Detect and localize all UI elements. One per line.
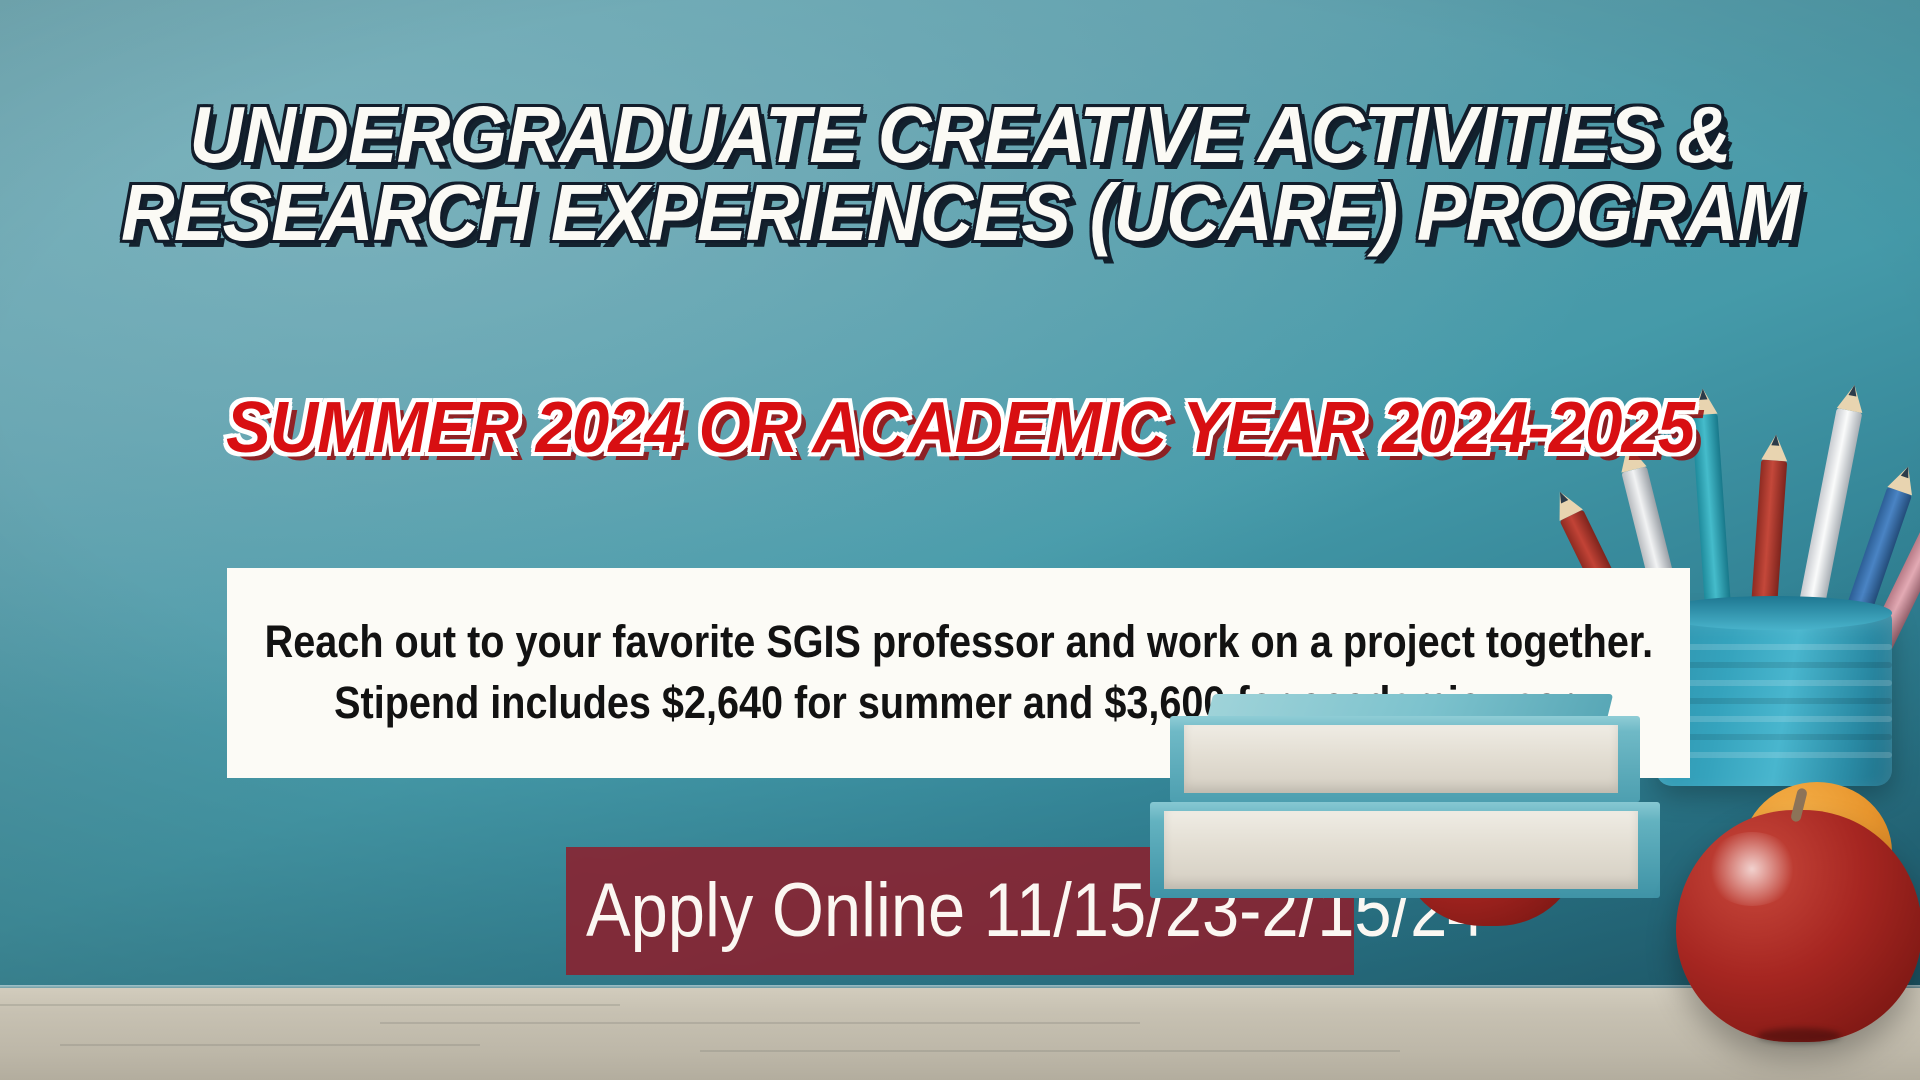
book-upper [1170, 716, 1640, 802]
book-stack [1150, 680, 1710, 1010]
description-line-1: Reach out to your favorite SGIS professo… [264, 619, 1652, 666]
apple-front [1676, 810, 1920, 1042]
page-title: UNDERGRADUATE CREATIVE ACTIVITIES & RESE… [67, 96, 1853, 251]
headline-line-2: RESEARCH EXPERIENCES (UCARE) PROGRAM [67, 174, 1853, 252]
subtitle-term: SUMMER 2024 OR ACADEMIC YEAR 2024-2025 [67, 392, 1853, 464]
ucare-promo-poster: UNDERGRADUATE CREATIVE ACTIVITIES & RESE… [0, 0, 1920, 1080]
book-lower [1150, 802, 1660, 898]
headline-line-1: UNDERGRADUATE CREATIVE ACTIVITIES & [190, 90, 1731, 179]
cup-rim [1656, 596, 1892, 630]
